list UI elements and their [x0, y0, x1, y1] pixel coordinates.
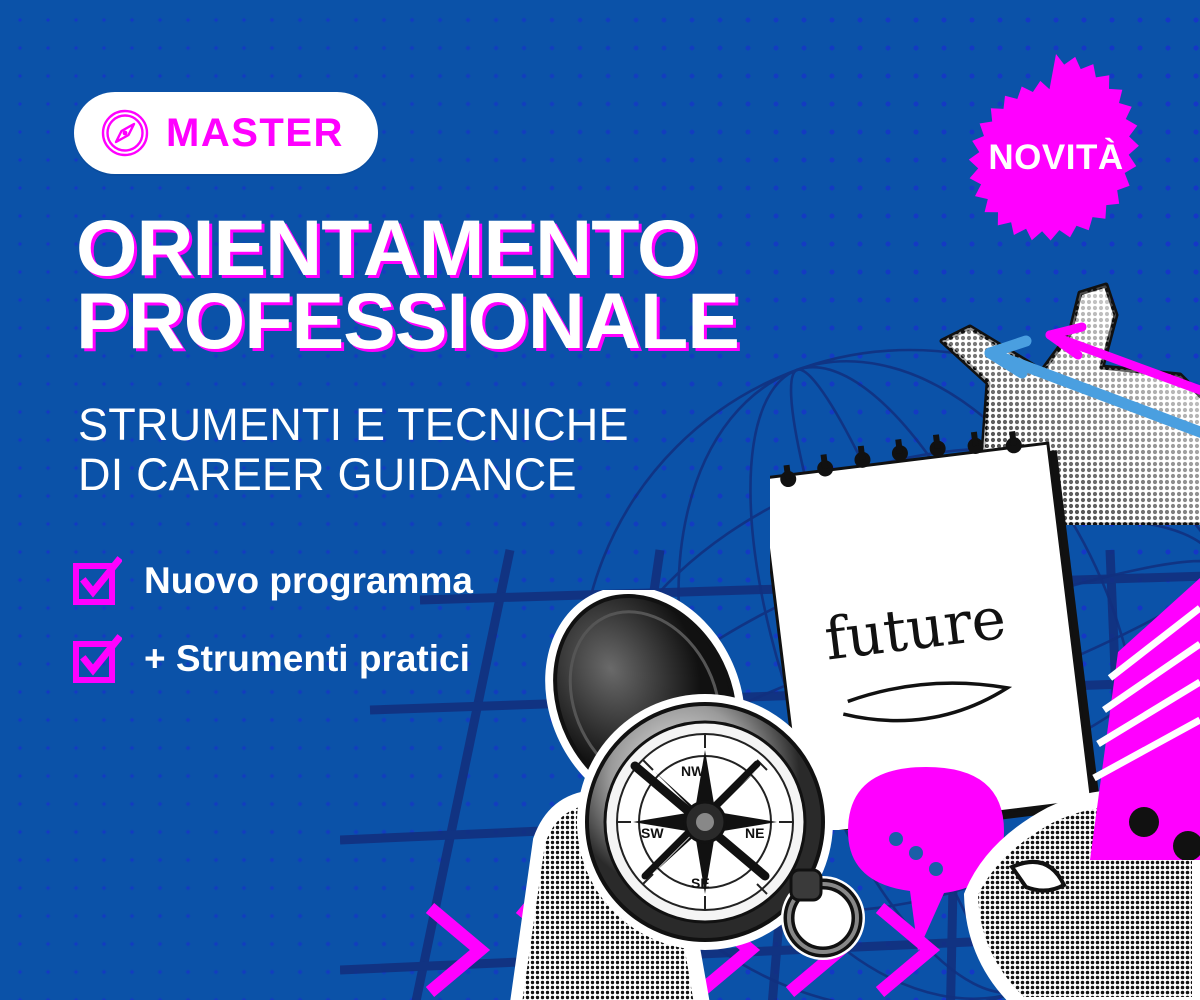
master-badge-label: MASTER: [166, 113, 344, 153]
list-item-label: + Strumenti pratici: [144, 638, 470, 680]
subtitle-line-2: DI CAREER GUIDANCE: [78, 450, 718, 500]
subtitle-line-1: STRUMENTI E TECNICHE: [78, 399, 629, 450]
promo-banner: MASTER NOVITÀ ORIENTAMENTO PROFESSIONALE…: [0, 0, 1200, 1000]
subtitle: STRUMENTI E TECNICHE DI CAREER GUIDANCE: [78, 400, 718, 501]
novita-badge[interactable]: NOVITÀ: [948, 48, 1164, 264]
headline-line-2: PROFESSIONALE: [76, 284, 836, 357]
master-badge[interactable]: MASTER: [74, 92, 378, 174]
list-item: + Strumenti pratici: [72, 626, 473, 692]
page-title: ORIENTAMENTO PROFESSIONALE: [76, 211, 836, 358]
compass-icon: [100, 108, 150, 158]
feature-list: Nuovo programma + Strumenti pratici: [72, 548, 473, 704]
checkbox-checked-icon: [72, 556, 122, 606]
novita-badge-label: NOVITÀ: [988, 138, 1123, 178]
checkbox-checked-icon: [72, 634, 122, 684]
list-item: Nuovo programma: [72, 548, 473, 614]
list-item-label: Nuovo programma: [144, 560, 473, 602]
